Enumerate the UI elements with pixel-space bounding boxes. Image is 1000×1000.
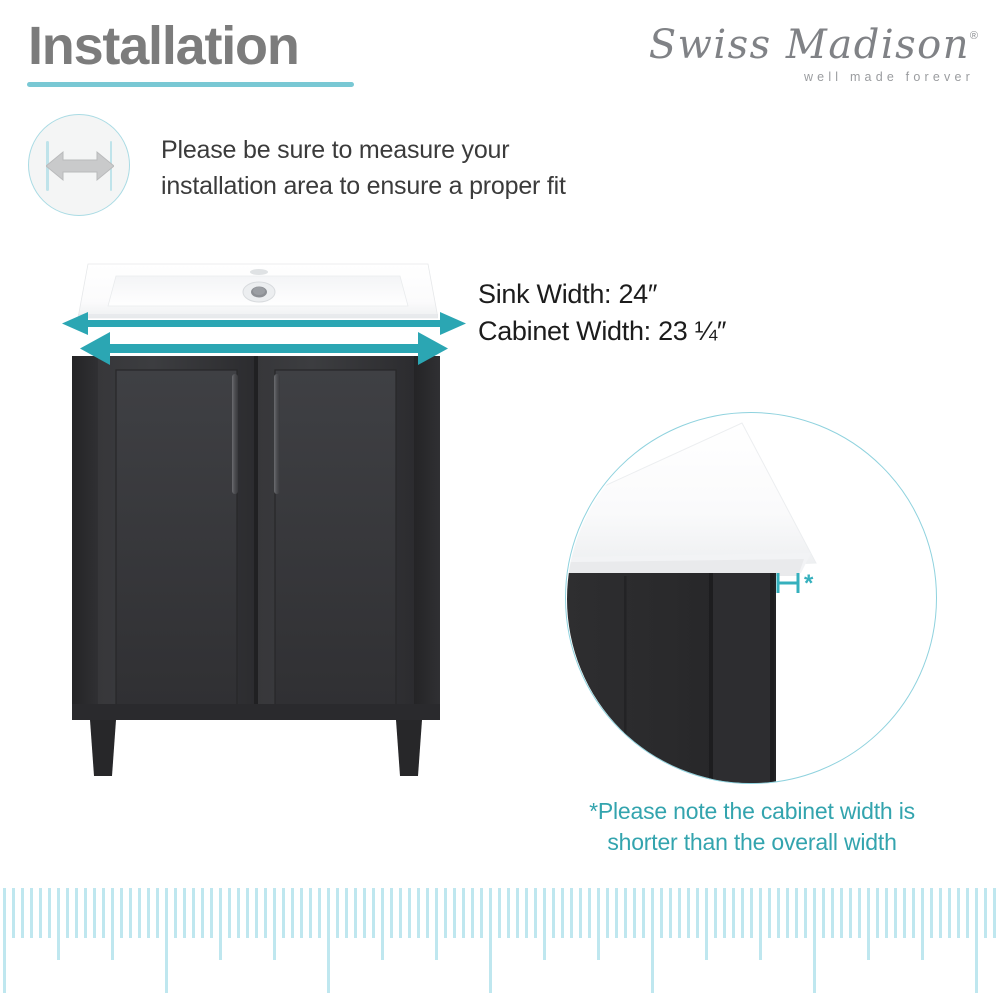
ruler-tick xyxy=(12,888,15,938)
ruler-tick xyxy=(111,888,114,960)
ruler-tick xyxy=(561,888,564,938)
door-handle-right xyxy=(274,374,280,494)
ruler-tick xyxy=(417,888,420,938)
ruler-tick xyxy=(48,888,51,938)
ruler-tick xyxy=(624,888,627,938)
ruler-tick xyxy=(21,888,24,938)
ruler-tick xyxy=(480,888,483,938)
page-title: Installation xyxy=(28,18,299,75)
ruler-tick xyxy=(273,888,276,960)
ruler-tick xyxy=(84,888,87,938)
ruler-tick xyxy=(525,888,528,938)
ruler-tick xyxy=(750,888,753,938)
ruler-tick xyxy=(129,888,132,938)
ruler-tick xyxy=(426,888,429,938)
ruler-tick xyxy=(633,888,636,938)
ruler-tick xyxy=(435,888,438,960)
double-arrow-width-icon xyxy=(28,114,130,216)
ruler-tick xyxy=(264,888,267,938)
measure-note: Please be sure to measure your installat… xyxy=(28,112,648,222)
ruler-tick xyxy=(552,888,555,938)
ruler-tick xyxy=(777,888,780,938)
ruler-tick xyxy=(210,888,213,938)
ruler-tick xyxy=(912,888,915,938)
ruler-tick xyxy=(597,888,600,960)
ruler-tick xyxy=(615,888,618,938)
brand-name: Swiss Madison xyxy=(649,22,970,68)
ruler-tick xyxy=(786,888,789,938)
cabinet-overhang-detail-inset: * xyxy=(565,412,937,784)
ruler-tick xyxy=(714,888,717,938)
ruler-tick xyxy=(228,888,231,938)
cabinet-leg-right xyxy=(396,720,422,776)
ruler-tick xyxy=(876,888,879,938)
ruler-tick xyxy=(534,888,537,938)
ruler-tick xyxy=(3,888,6,993)
measure-note-line-1: Please be sure to measure your xyxy=(161,132,566,168)
ruler-tick xyxy=(948,888,951,938)
sink-basin xyxy=(78,262,438,324)
ruler-tick xyxy=(768,888,771,938)
ruler-tick xyxy=(921,888,924,960)
ruler-tick xyxy=(444,888,447,938)
vanity-illustration xyxy=(72,262,442,822)
footnote-line-2: shorter than the overall width xyxy=(552,827,952,858)
ruler-tick xyxy=(489,888,492,993)
ruler-tick xyxy=(795,888,798,938)
ruler-tick xyxy=(354,888,357,938)
ruler-tick xyxy=(894,888,897,938)
ruler-tick xyxy=(219,888,222,960)
ruler-tick xyxy=(984,888,987,938)
vanity-cabinet xyxy=(72,356,440,776)
ruler-tick xyxy=(363,888,366,938)
measure-note-line-2: installation area to ensure a proper fit xyxy=(161,168,566,204)
ruler-tick xyxy=(804,888,807,938)
ruler-tick xyxy=(570,888,573,938)
cabinet-leg-left xyxy=(90,720,116,776)
brand-logo: Swiss Madison ® well made forever xyxy=(688,22,978,94)
ruler-tick xyxy=(453,888,456,938)
ruler-tick xyxy=(138,888,141,938)
ruler-tick xyxy=(102,888,105,938)
ruler-tick xyxy=(993,888,996,938)
ruler-tick xyxy=(174,888,177,938)
ruler-tick xyxy=(399,888,402,938)
ruler-tick xyxy=(147,888,150,938)
ruler-tick xyxy=(732,888,735,938)
ruler-tick xyxy=(57,888,60,960)
ruler-tick xyxy=(201,888,204,938)
ruler-tick xyxy=(696,888,699,938)
ruler-tick xyxy=(300,888,303,938)
ruler-tick xyxy=(471,888,474,938)
ruler-tick xyxy=(903,888,906,938)
overhang-asterisk: * xyxy=(804,570,814,597)
ruler-tick xyxy=(183,888,186,938)
ruler-tick xyxy=(723,888,726,938)
ruler-tick xyxy=(237,888,240,938)
ruler-tick xyxy=(93,888,96,938)
ruler-tick xyxy=(669,888,672,938)
ruler-tick xyxy=(462,888,465,938)
ruler-tick xyxy=(813,888,816,993)
sink-width-label: Sink Width: 24″ xyxy=(478,276,726,313)
ruler-tick xyxy=(660,888,663,938)
ruler-tick xyxy=(588,888,591,938)
cabinet-width-footnote: *Please note the cabinet width is shorte… xyxy=(552,796,952,858)
ruler-tick xyxy=(120,888,123,938)
ruler-tick xyxy=(30,888,33,938)
ruler-tick xyxy=(741,888,744,938)
ruler-tick xyxy=(543,888,546,960)
ruler-tick xyxy=(651,888,654,993)
title-underline-rule xyxy=(27,82,354,87)
ruler-tick xyxy=(606,888,609,938)
brand-tagline: well made forever xyxy=(804,70,974,84)
ruler-tick xyxy=(66,888,69,938)
ruler-tick xyxy=(246,888,249,938)
ruler-tick xyxy=(678,888,681,938)
ruler-tick xyxy=(957,888,960,938)
ruler-tick xyxy=(831,888,834,938)
ruler-tick xyxy=(498,888,501,938)
ruler-tick xyxy=(705,888,708,960)
ruler-tick xyxy=(390,888,393,938)
ruler-tick xyxy=(309,888,312,938)
ruler-tick xyxy=(840,888,843,938)
ruler-tick xyxy=(642,888,645,938)
ruler-tick xyxy=(687,888,690,938)
ruler-tick xyxy=(759,888,762,960)
ruler-tick xyxy=(966,888,969,938)
ruler-tick xyxy=(579,888,582,938)
registered-trademark-icon: ® xyxy=(970,30,978,42)
ruler-tick xyxy=(192,888,195,938)
measurement-ruler xyxy=(0,880,1000,1000)
ruler-tick xyxy=(318,888,321,938)
ruler-tick xyxy=(156,888,159,938)
ruler-tick xyxy=(336,888,339,938)
overhang-detail-drawing: * xyxy=(566,413,937,784)
door-handle-left xyxy=(232,374,238,494)
measure-note-text: Please be sure to measure your installat… xyxy=(161,132,566,204)
ruler-tick xyxy=(822,888,825,938)
ruler-tick xyxy=(75,888,78,938)
ruler-tick xyxy=(327,888,330,993)
ruler-tick xyxy=(381,888,384,960)
ruler-tick xyxy=(885,888,888,938)
ruler-tick xyxy=(408,888,411,938)
ruler-tick xyxy=(930,888,933,938)
dimension-labels: Sink Width: 24″ Cabinet Width: 23 ¼″ xyxy=(478,276,726,350)
ruler-tick xyxy=(507,888,510,938)
ruler-tick xyxy=(165,888,168,993)
ruler-tick xyxy=(291,888,294,938)
ruler-tick xyxy=(255,888,258,938)
ruler-tick xyxy=(345,888,348,938)
installation-instruction-page: Installation Swiss Madison ® well made f… xyxy=(0,0,1000,1000)
ruler-tick xyxy=(858,888,861,938)
ruler-tick xyxy=(939,888,942,938)
cabinet-width-label: Cabinet Width: 23 ¼″ xyxy=(478,313,726,350)
ruler-tick xyxy=(849,888,852,938)
double-headed-arrow-icon xyxy=(46,148,114,184)
ruler-tick xyxy=(282,888,285,938)
footnote-line-1: *Please note the cabinet width is xyxy=(552,796,952,827)
ruler-tick xyxy=(975,888,978,993)
ruler-tick xyxy=(516,888,519,938)
ruler-tick xyxy=(39,888,42,938)
ruler-tick xyxy=(372,888,375,938)
ruler-tick xyxy=(867,888,870,960)
